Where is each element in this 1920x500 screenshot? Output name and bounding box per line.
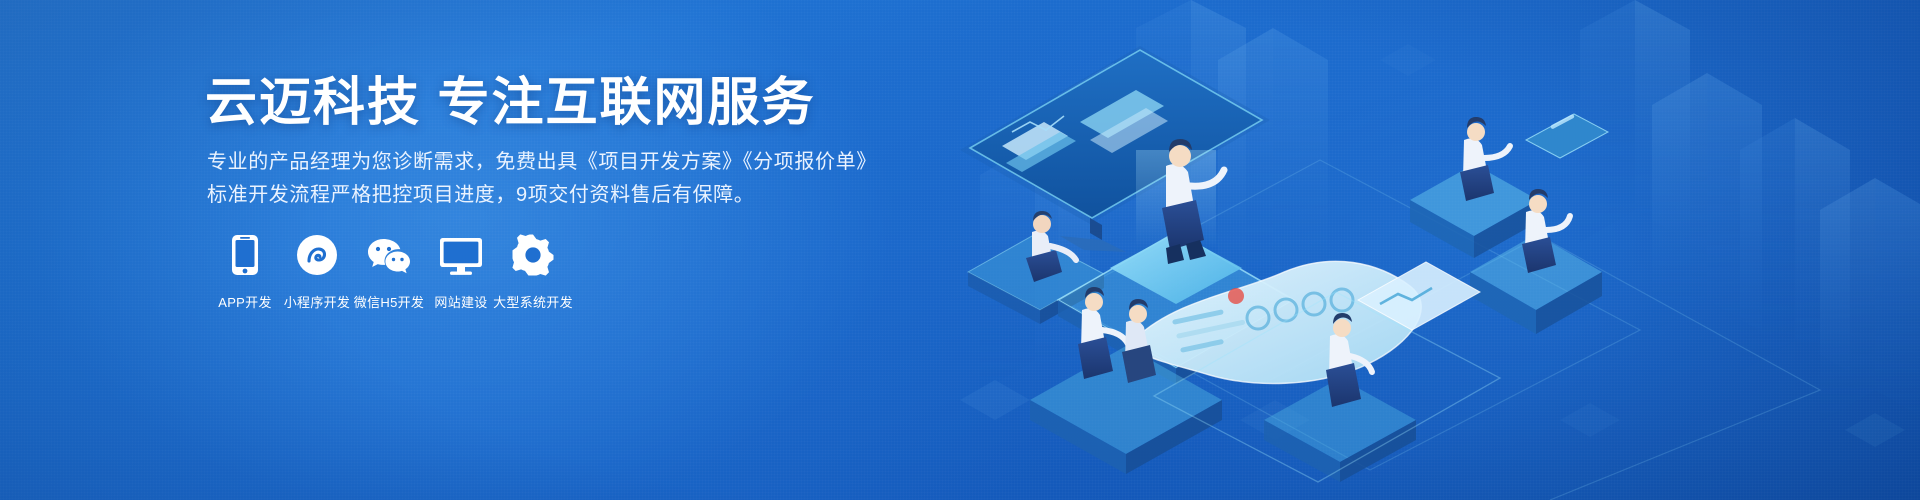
subtitle-line-1: 专业的产品经理为您诊断需求，免费出具《项目开发方案》《分项报价单》	[207, 146, 907, 179]
monitor-icon	[439, 232, 483, 276]
person-on-cube-top-right	[1410, 117, 1538, 258]
mini-program-icon	[296, 232, 338, 276]
service-item-large-system[interactable]: 大型系统开发	[497, 232, 569, 311]
service-label: 微信H5开发	[354, 292, 424, 311]
subtitle-block: 专业的产品经理为您诊断需求，免费出具《项目开发方案》《分项报价单》 标准开发流程…	[207, 146, 907, 212]
small-screen-top-right	[1526, 114, 1608, 158]
service-label: 小程序开发	[284, 292, 351, 311]
service-item-wechat-h5[interactable]: 微信H5开发	[353, 232, 425, 311]
service-item-app[interactable]: APP开发	[209, 232, 281, 311]
service-label: APP开发	[218, 292, 272, 311]
service-item-miniprogram[interactable]: 小程序开发	[281, 232, 353, 311]
mobile-phone-icon	[230, 232, 260, 276]
subtitle-line-2: 标准开发流程严格把控项目进度，9项交付资料售后有保障。	[207, 179, 907, 212]
service-icon-list: APP开发 小程序开发	[209, 232, 569, 311]
dashboard-screen	[960, 46, 1270, 252]
wechat-icon	[366, 232, 412, 276]
service-label: 网站建设	[434, 292, 487, 311]
gear-icon	[512, 232, 554, 276]
service-item-website[interactable]: 网站建设	[425, 232, 497, 311]
banner-content: 云迈科技 专注互联网服务 专业的产品经理为您诊断需求，免费出具《项目开发方案》《…	[205, 0, 965, 500]
promo-banner: 云迈科技 专注互联网服务 专业的产品经理为您诊断需求，免费出具《项目开发方案》《…	[0, 0, 1920, 500]
page-title: 云迈科技 专注互联网服务	[205, 72, 815, 134]
isometric-team-dashboard-illustration	[940, 0, 1920, 500]
service-label: 大型系统开发	[493, 292, 573, 311]
